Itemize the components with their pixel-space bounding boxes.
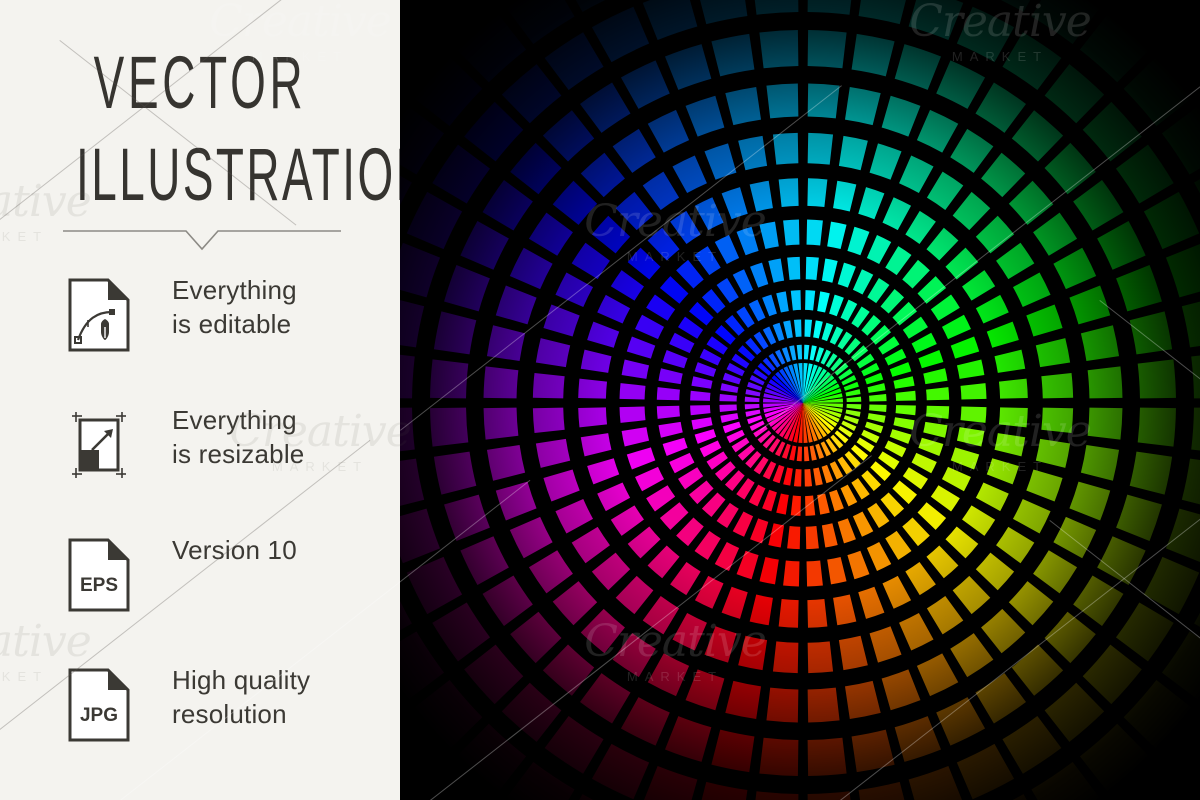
page-title-line-1: VECTOR — [76, 46, 324, 120]
radial-color-wheel — [400, 0, 1200, 800]
chevron-divider — [63, 230, 341, 252]
title-block: VECTOR ILLUSTRATION — [0, 46, 400, 212]
feature-row-editable: Everything is editable — [0, 270, 400, 400]
jpg-file-icon: JPG — [68, 668, 130, 742]
page-title-line-2: ILLUSTRATION — [76, 138, 324, 212]
feature-label-resizable: Everything is resizable — [172, 404, 304, 472]
feature-label-editable: Everything is editable — [172, 274, 297, 342]
info-panel: VECTOR ILLUSTRATION — [0, 0, 400, 800]
feature-label-line-2: is resizable — [172, 438, 304, 472]
feature-label-version: Version 10 — [172, 534, 297, 568]
feature-row-resolution: JPG High quality resolution — [0, 660, 400, 790]
feature-label-line-1: High quality — [172, 664, 310, 698]
eps-file-icon: EPS — [68, 538, 130, 612]
feature-label-line-2: is editable — [172, 308, 297, 342]
jpg-file-icon-label: JPG — [80, 705, 118, 726]
resize-arrow-icon — [68, 408, 130, 482]
screenshot-canvas: VECTOR ILLUSTRATION — [0, 0, 1200, 800]
feature-list: Everything is editable — [0, 270, 400, 790]
eps-file-icon-label: EPS — [80, 575, 118, 596]
feature-label-line-2: resolution — [172, 698, 310, 732]
feature-label-line-1: Everything — [172, 404, 304, 438]
feature-row-resizable: Everything is resizable — [0, 400, 400, 530]
feature-label-resolution: High quality resolution — [172, 664, 310, 732]
document-pen-tool-icon — [68, 278, 130, 352]
feature-row-version: EPS Version 10 — [0, 530, 400, 660]
color-wheel-graphic — [400, 0, 1200, 800]
feature-label-line-1: Everything — [172, 274, 297, 308]
feature-label-line-1: Version 10 — [172, 534, 297, 568]
